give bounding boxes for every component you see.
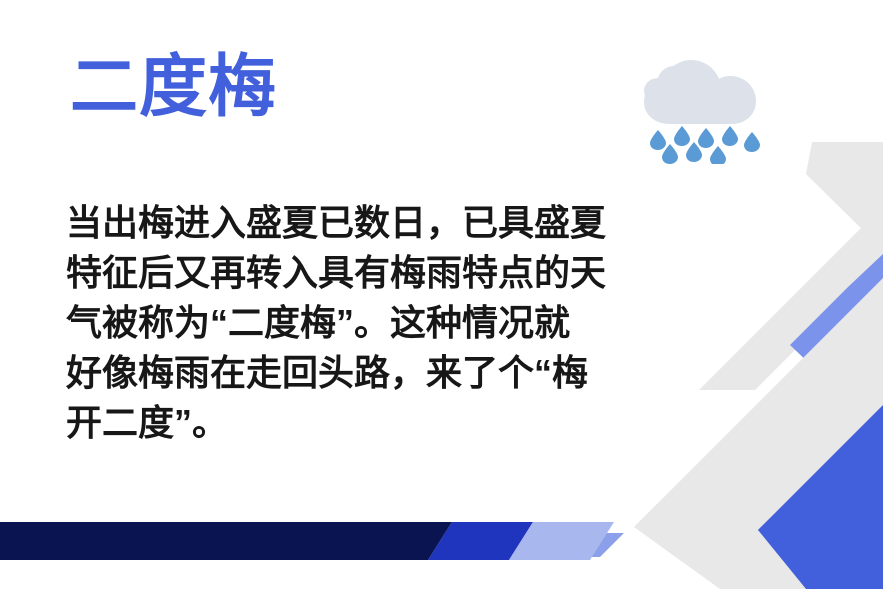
gray-band-upper xyxy=(699,150,883,390)
rain-cloud-icon xyxy=(636,52,768,164)
body-paragraph: 当出梅进入盛夏已数日，已具盛夏 特征后又再转入具有梅雨特点的天 气被称为“二度梅… xyxy=(66,198,666,448)
body-line-5: 开二度”。 xyxy=(66,398,666,448)
navy-segment xyxy=(0,522,452,560)
body-line-4: 好像梅雨在走回头路，来了个“梅 xyxy=(66,348,666,398)
cloud-shape xyxy=(644,60,756,124)
periwinkle-band xyxy=(790,254,883,389)
gray-band-top xyxy=(806,142,883,250)
body-line-3: 气被称为“二度梅”。这种情况就 xyxy=(66,298,666,348)
slide-canvas: 二度梅 当出梅进入盛夏已数日，已具盛夏 特征后又再转入具有梅雨特点的天 xyxy=(0,0,883,589)
page-title: 二度梅 xyxy=(70,48,277,126)
bottom-ribbon xyxy=(0,519,883,563)
body-line-2: 特征后又再转入具有梅雨特点的天 xyxy=(66,248,666,298)
body-line-1: 当出梅进入盛夏已数日，已具盛夏 xyxy=(66,198,666,248)
